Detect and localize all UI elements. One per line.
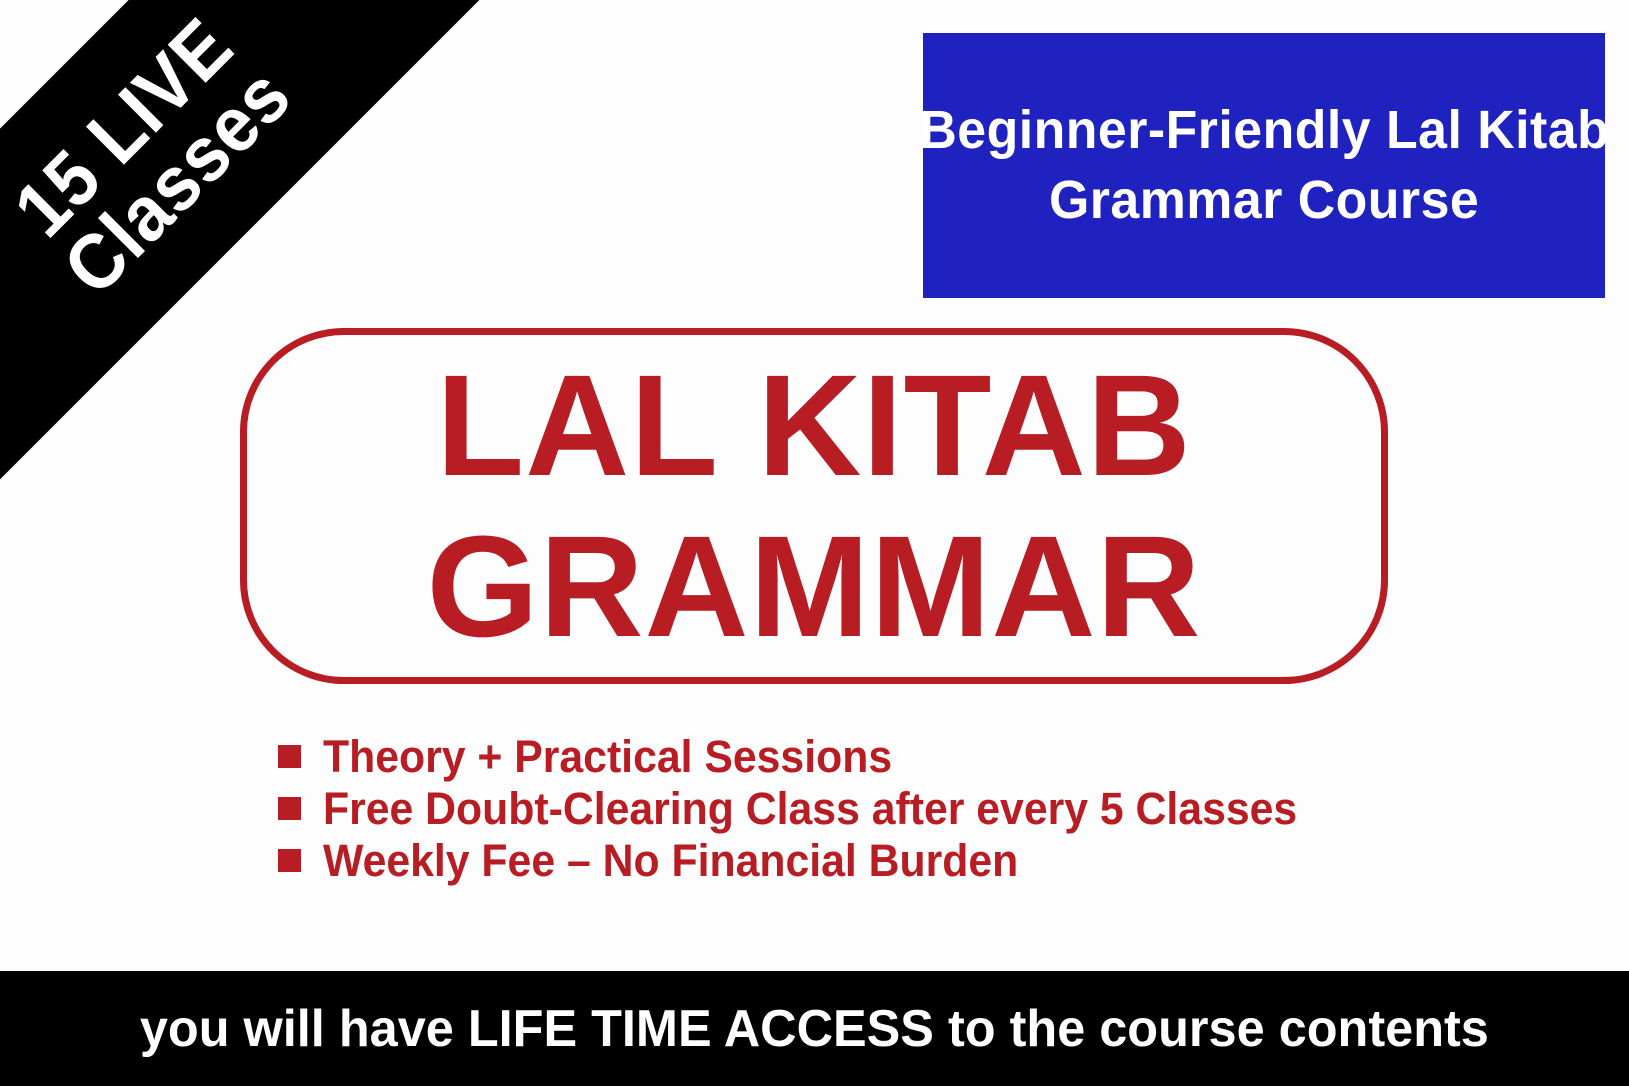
list-item: Free Doubt-Clearing Class after every 5 … bbox=[278, 782, 1478, 834]
ribbon-text: 15 LIVE Classes bbox=[0, 1, 303, 308]
feature-label: Free Doubt-Clearing Class after every 5 … bbox=[323, 786, 1297, 831]
badge-line-1: Beginner-Friendly Lal Kitab bbox=[919, 96, 1609, 165]
badge-line-2: Grammar Course bbox=[1049, 166, 1479, 235]
feature-label: Weekly Fee – No Financial Burden bbox=[323, 838, 1018, 883]
footer-text: you will have LIFE TIME ACCESS to the co… bbox=[140, 1003, 1489, 1055]
square-bullet-icon bbox=[278, 849, 301, 872]
course-title-frame: LAL KITAB GRAMMAR bbox=[240, 328, 1388, 684]
footer-bar: you will have LIFE TIME ACCESS to the co… bbox=[0, 971, 1629, 1086]
ribbon-line-1: 15 LIVE bbox=[0, 1, 249, 253]
ribbon-line-2: Classes bbox=[51, 55, 304, 308]
course-title-line-2: GRAMMAR bbox=[427, 506, 1202, 667]
list-item: Theory + Practical Sessions bbox=[278, 730, 1478, 782]
course-subtitle-badge: Beginner-Friendly Lal Kitab Grammar Cour… bbox=[923, 33, 1605, 298]
list-item: Weekly Fee – No Financial Burden bbox=[278, 834, 1478, 886]
course-promo-poster: 15 LIVE Classes Beginner-Friendly Lal Ki… bbox=[0, 0, 1629, 1086]
square-bullet-icon bbox=[278, 797, 301, 820]
feature-list: Theory + Practical Sessions Free Doubt-C… bbox=[278, 730, 1478, 886]
course-title-line-1: LAL KITAB bbox=[436, 345, 1192, 506]
square-bullet-icon bbox=[278, 745, 301, 768]
feature-label: Theory + Practical Sessions bbox=[323, 734, 892, 779]
